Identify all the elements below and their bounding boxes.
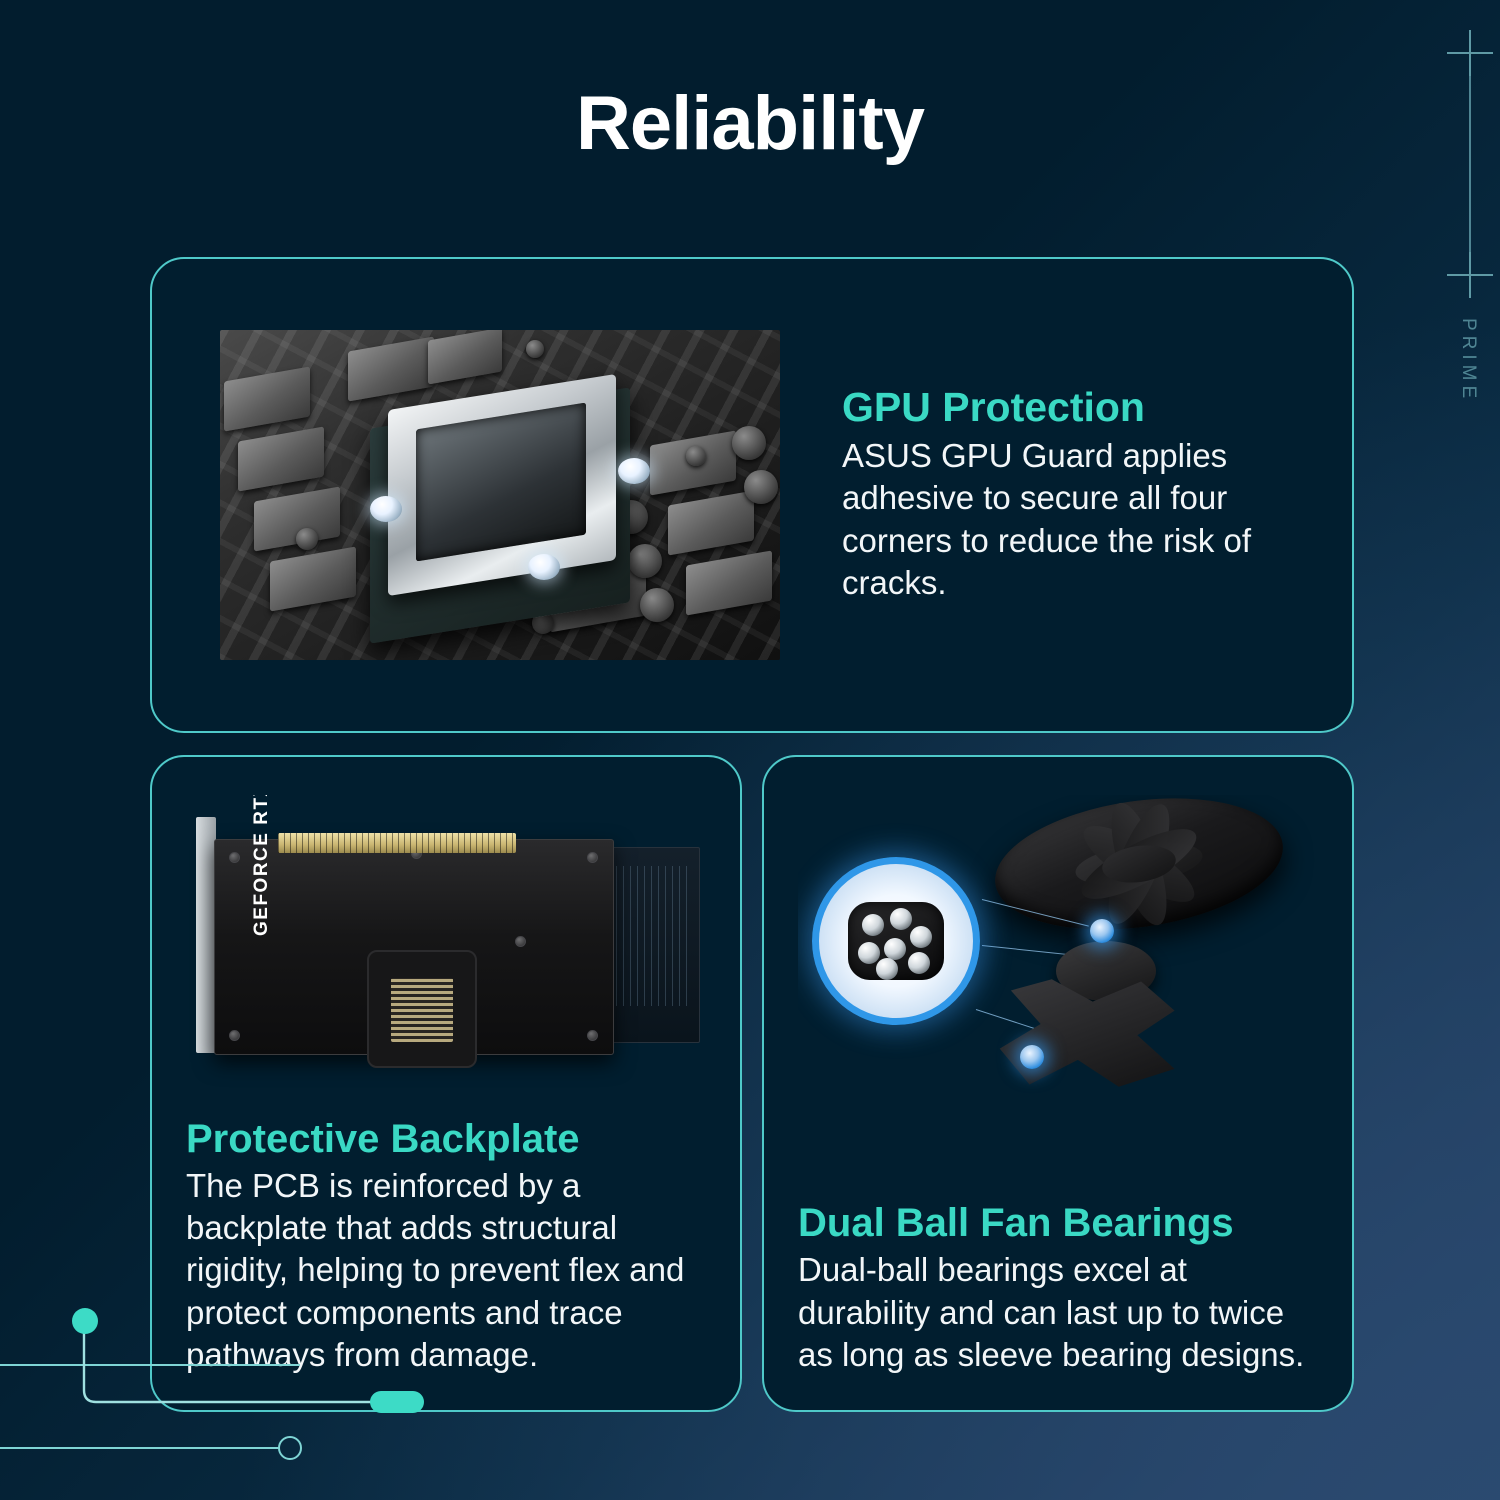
gpu-protection-text: GPU Protection ASUS GPU Guard applies ad… <box>842 386 1272 604</box>
dual-ball-bearing-exploded-image <box>798 795 1322 1095</box>
plus-icon-top <box>1447 30 1493 76</box>
bearing-magnifier-icon <box>812 857 980 1025</box>
card-gpu-protection: GPU Protection ASUS GPU Guard applies ad… <box>150 257 1354 733</box>
brand-rail-label: PRIME <box>1457 318 1479 403</box>
card-dual-ball-fan-bearings: Dual Ball Fan Bearings Dual-ball bearing… <box>762 755 1354 1412</box>
circuit-ring-icon <box>278 1436 302 1460</box>
rail-divider-line <box>1469 76 1471 266</box>
card-heading: Protective Backplate <box>186 1118 706 1160</box>
infographic-root: Reliability <box>0 0 1500 1500</box>
fan-bearings-text: Dual Ball Fan Bearings Dual-ball bearing… <box>798 1202 1318 1380</box>
circuit-pill-icon <box>370 1391 424 1413</box>
circuit-dot-icon <box>72 1308 98 1334</box>
backplate-brand-label: GEFORCE RTX <box>251 795 273 936</box>
card-body: ASUS GPU Guard applies adhesive to secur… <box>842 435 1272 604</box>
plus-icon-bottom <box>1447 252 1493 298</box>
circuit-decoration <box>0 1300 480 1500</box>
card-heading: Dual Ball Fan Bearings <box>798 1202 1318 1244</box>
page-title: Reliability <box>0 86 1500 162</box>
card-body: Dual-ball bearings excel at durability a… <box>798 1249 1318 1376</box>
graphics-card-backplate-image: GEFORCE RTX <box>186 795 710 1095</box>
gpu-die-closeup-image <box>220 330 780 660</box>
card-heading: GPU Protection <box>842 386 1272 429</box>
